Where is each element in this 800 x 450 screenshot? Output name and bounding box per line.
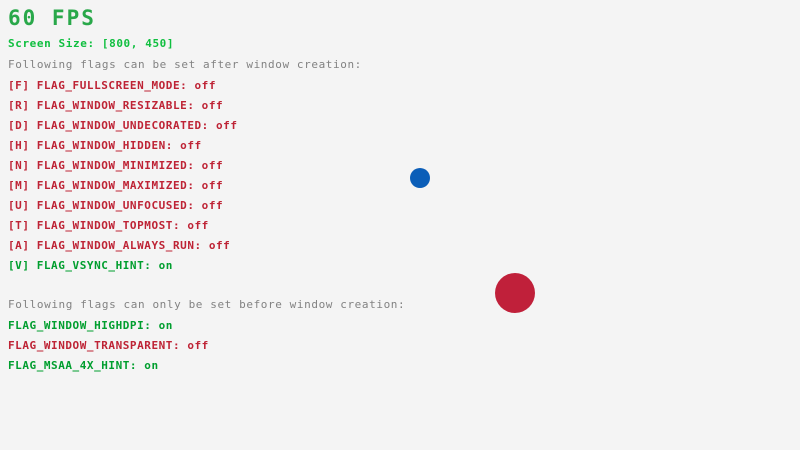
- flag-row-flag-window-always-run[interactable]: [A] FLAG_WINDOW_ALWAYS_RUN: off: [8, 239, 230, 252]
- flag-row-flag-msaa-4x-hint[interactable]: FLAG_MSAA_4X_HINT: on: [8, 359, 159, 372]
- screen-size-label: Screen Size: [800, 450]: [8, 37, 174, 50]
- bouncing-ball-blue: [410, 168, 430, 188]
- fps-counter: 60 FPS: [8, 6, 96, 30]
- raylib-window-canvas: 60 FPS Screen Size: [800, 450] Following…: [0, 0, 800, 450]
- flag-row-flag-window-unfocused[interactable]: [U] FLAG_WINDOW_UNFOCUSED: off: [8, 199, 223, 212]
- section-header-before-creation: Following flags can only be set before w…: [8, 298, 405, 311]
- flag-row-flag-window-maximized[interactable]: [M] FLAG_WINDOW_MAXIMIZED: off: [8, 179, 223, 192]
- flag-row-flag-window-hidden[interactable]: [H] FLAG_WINDOW_HIDDEN: off: [8, 139, 202, 152]
- section-header-after-creation: Following flags can be set after window …: [8, 58, 362, 71]
- flag-row-flag-fullscreen-mode[interactable]: [F] FLAG_FULLSCREEN_MODE: off: [8, 79, 216, 92]
- flag-row-flag-window-topmost[interactable]: [T] FLAG_WINDOW_TOPMOST: off: [8, 219, 209, 232]
- flag-row-flag-vsync-hint[interactable]: [V] FLAG_VSYNC_HINT: on: [8, 259, 173, 272]
- flag-row-flag-window-resizable[interactable]: [R] FLAG_WINDOW_RESIZABLE: off: [8, 99, 223, 112]
- flag-row-flag-window-highdpi[interactable]: FLAG_WINDOW_HIGHDPI: on: [8, 319, 173, 332]
- flag-row-flag-window-transparent[interactable]: FLAG_WINDOW_TRANSPARENT: off: [8, 339, 209, 352]
- flag-row-flag-window-minimized[interactable]: [N] FLAG_WINDOW_MINIMIZED: off: [8, 159, 223, 172]
- bouncing-ball-red: [495, 273, 535, 313]
- flag-row-flag-window-undecorated[interactable]: [D] FLAG_WINDOW_UNDECORATED: off: [8, 119, 238, 132]
